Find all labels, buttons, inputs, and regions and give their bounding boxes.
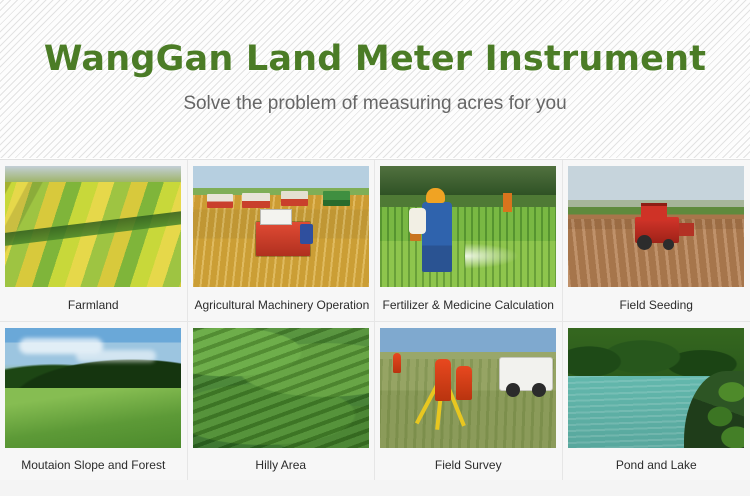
distant-surveyor-icon: [393, 353, 401, 373]
gallery-item-agricultural-machinery-operation[interactable]: Agricultural Machinery Operation: [188, 160, 376, 321]
page-header: WangGan Land Meter Instrument Solve the …: [0, 0, 750, 160]
gallery-item-caption: Agricultural Machinery Operation: [193, 287, 370, 321]
cloud-icon: [19, 338, 103, 354]
shrub-icon: [704, 378, 744, 448]
application-gallery: Farmland Agricultural Machinery Operatio…: [0, 160, 750, 480]
thumbnail-fertilizer-medicine-calculation[interactable]: [380, 166, 556, 287]
surveyor-icon: [456, 366, 472, 400]
harvester-icon: [256, 222, 310, 256]
harvester-icon: [323, 191, 350, 206]
thumbnail-moutaion-slope-and-forest[interactable]: [5, 328, 181, 448]
pesticide-sprayer-photo: [380, 166, 556, 287]
thumbnail-agricultural-machinery-operation[interactable]: [193, 166, 369, 287]
gallery-row: Farmland Agricultural Machinery Operatio…: [0, 160, 750, 322]
surveyor-icon: [435, 359, 451, 401]
worker-with-sprayer-icon: [422, 202, 452, 272]
thumbnail-farmland[interactable]: [5, 166, 181, 287]
gallery-item-field-survey[interactable]: Field Survey: [375, 322, 563, 480]
gallery-item-caption: Pond and Lake: [568, 448, 746, 480]
harvester-icon: [207, 194, 233, 208]
combine-harvester-photo: [193, 166, 369, 287]
distant-worker-icon: [503, 193, 512, 212]
gallery-item-hilly-area[interactable]: Hilly Area: [188, 322, 376, 480]
gallery-item-caption: Moutaion Slope and Forest: [5, 448, 182, 480]
page-subtitle: Solve the problem of measuring acres for…: [0, 79, 750, 116]
tractor-icon: [635, 217, 679, 243]
gallery-item-caption: Field Survey: [380, 448, 557, 480]
gallery-item-farmland[interactable]: Farmland: [0, 160, 188, 321]
field-survey-photo: [380, 328, 556, 448]
page-title: WangGan Land Meter Instrument: [0, 0, 750, 79]
gallery-item-caption: Fertilizer & Medicine Calculation: [380, 287, 557, 321]
spray-mist-icon: [465, 243, 519, 269]
gallery-item-moutaion-slope-and-forest[interactable]: Moutaion Slope and Forest: [0, 322, 188, 480]
harvester-icon: [281, 191, 308, 206]
rolling-hills-photo: [193, 328, 369, 448]
thumbnail-field-survey[interactable]: [380, 328, 556, 448]
grass-slope-treeline-photo: [5, 328, 181, 448]
page-root: WangGan Land Meter Instrument Solve the …: [0, 0, 750, 496]
gallery-item-caption: Field Seeding: [568, 287, 746, 321]
thumbnail-field-seeding[interactable]: [568, 166, 744, 287]
gallery-item-fertilizer-medicine-calculation[interactable]: Fertilizer & Medicine Calculation: [375, 160, 563, 321]
gallery-item-field-seeding[interactable]: Field Seeding: [563, 160, 750, 321]
gallery-item-caption: Farmland: [5, 287, 182, 321]
gallery-item-pond-and-lake[interactable]: Pond and Lake: [563, 322, 750, 480]
gallery-item-caption: Hilly Area: [193, 448, 370, 480]
pond-and-forest-photo: [568, 328, 744, 448]
farmland-photo: [5, 166, 181, 287]
harvester-icon: [242, 193, 270, 208]
tractor-seeding-photo: [568, 166, 744, 287]
thumbnail-pond-and-lake[interactable]: [568, 328, 744, 448]
thumbnail-hilly-area[interactable]: [193, 328, 369, 448]
survey-vehicle-icon: [499, 357, 553, 391]
gallery-row: Moutaion Slope and Forest Hilly Area: [0, 322, 750, 480]
